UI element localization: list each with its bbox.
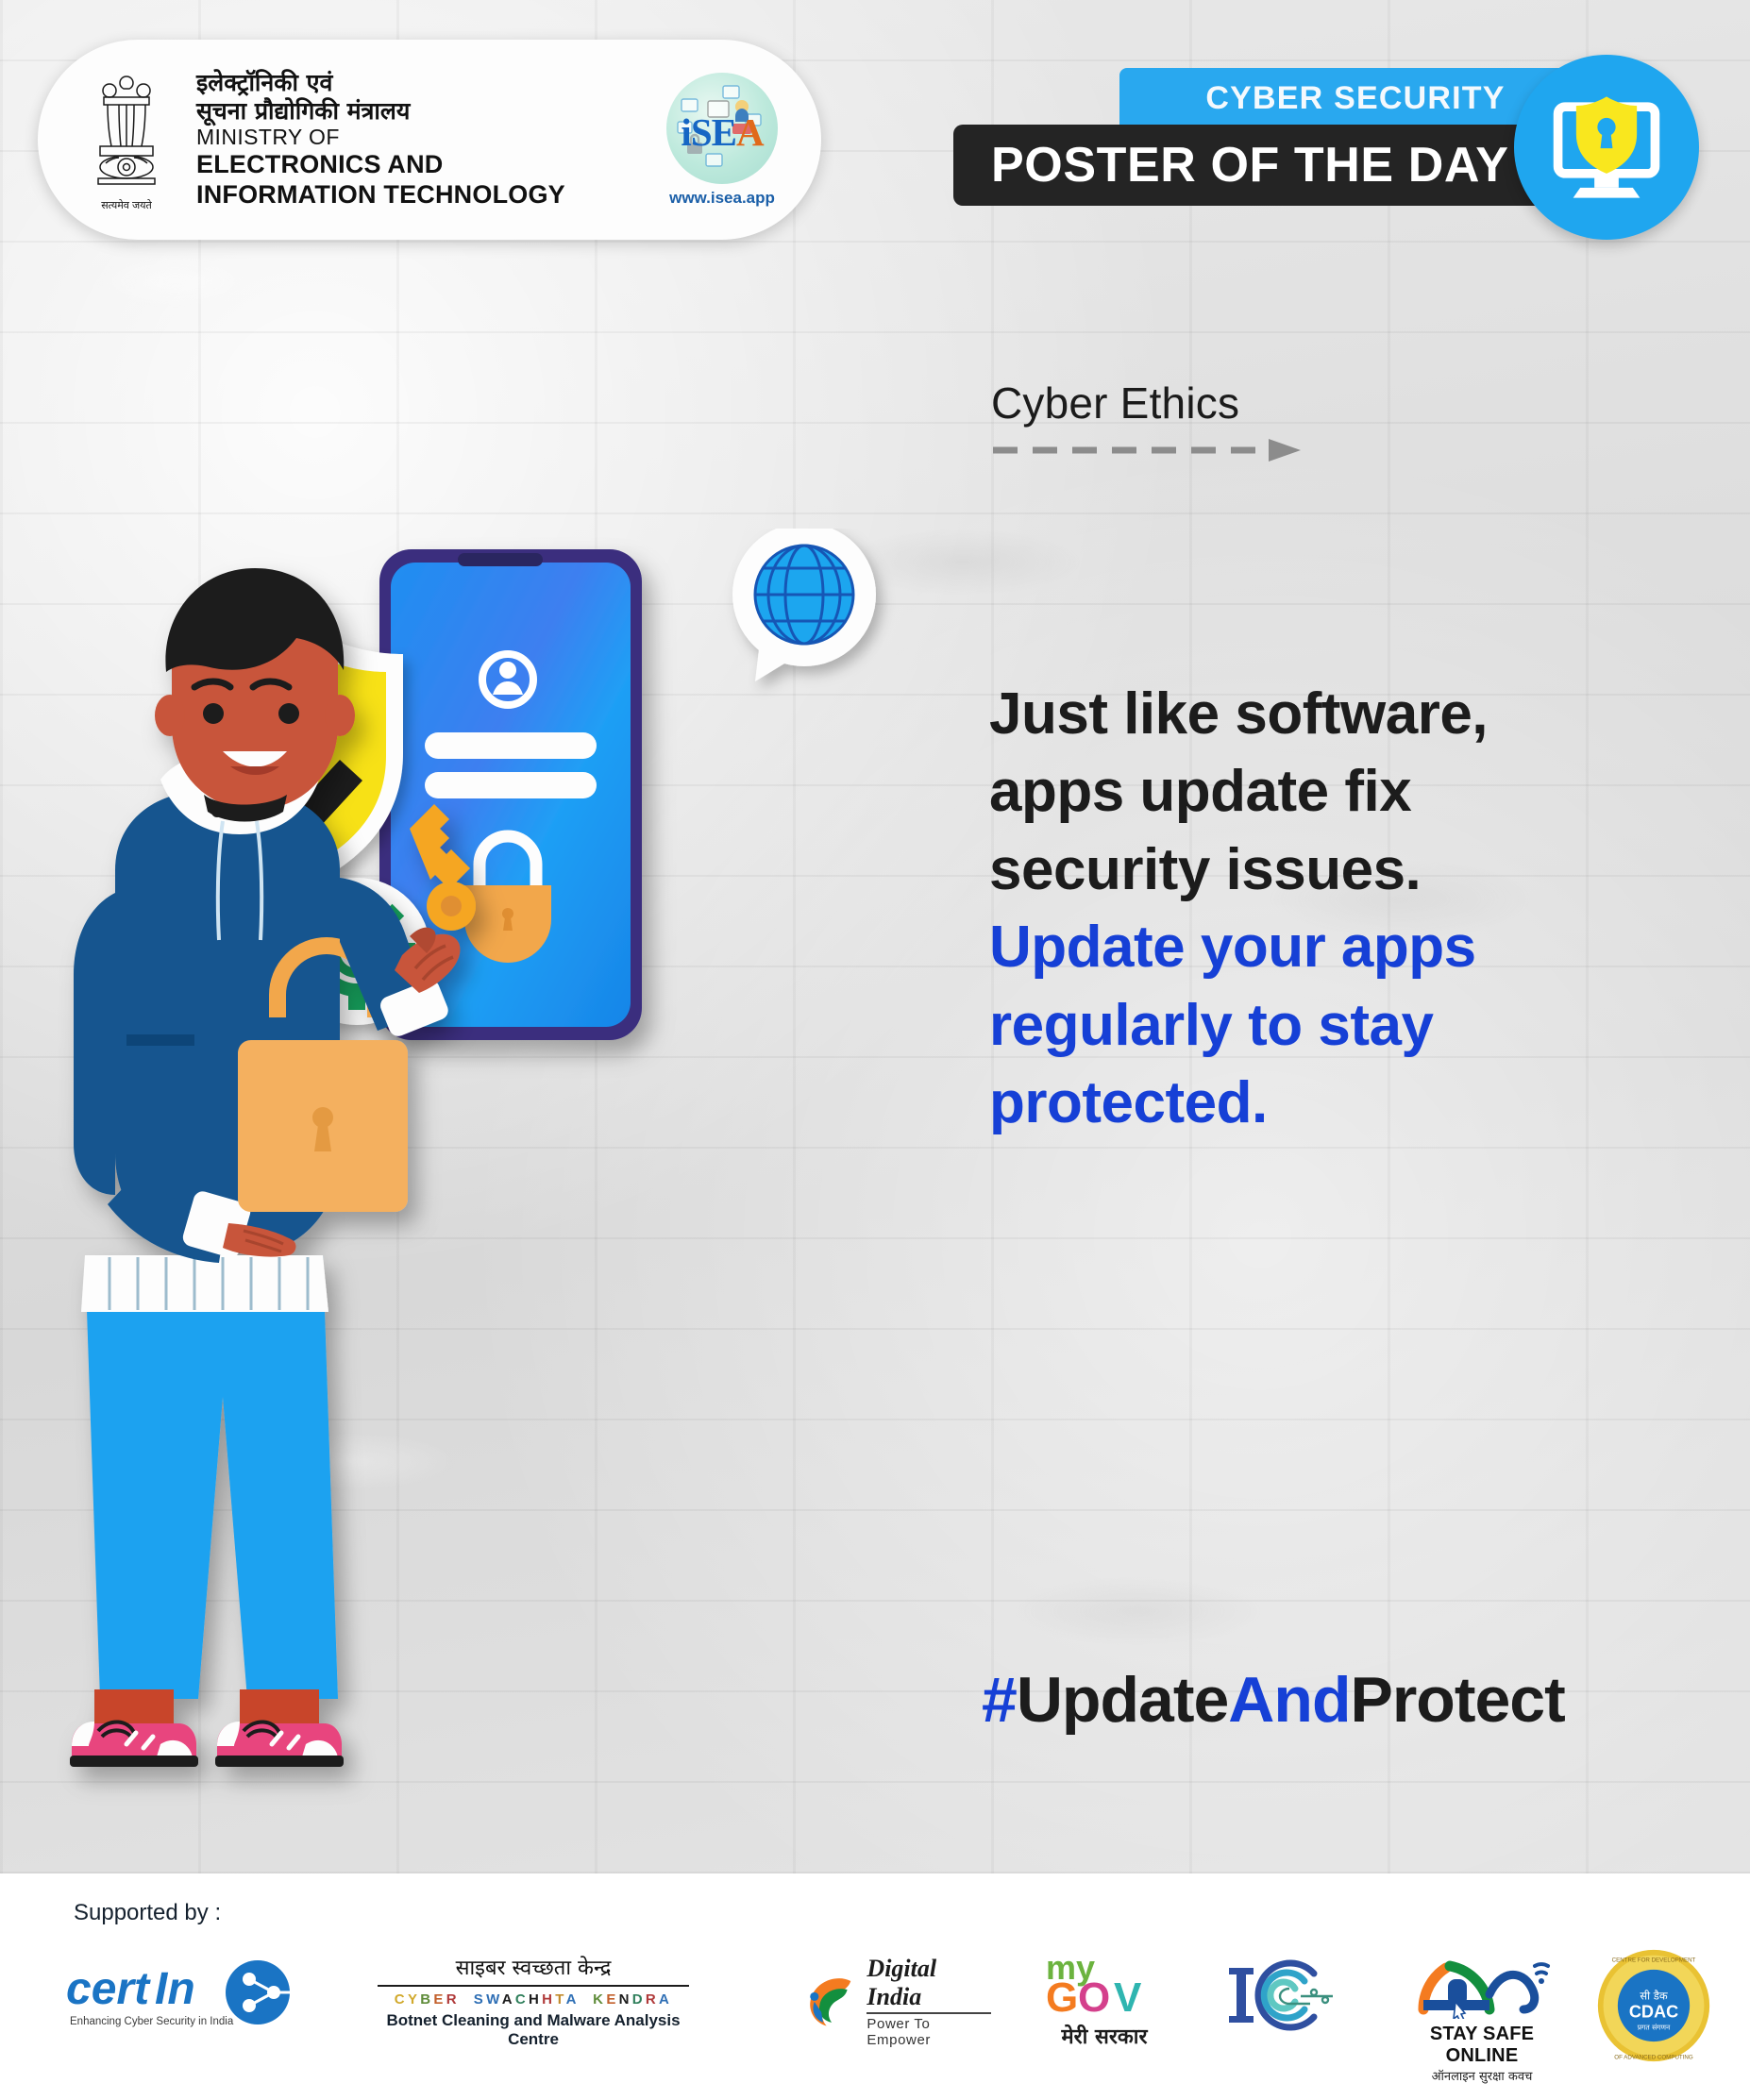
svg-text:In: In	[155, 1964, 195, 2014]
ministry-hindi-line-1: इलेक्ट्रॉनिकी एवं	[196, 69, 565, 97]
ministry-en-line-1: MINISTRY OF	[196, 125, 565, 150]
message-line-4: Update your apps	[989, 909, 1735, 986]
banner-poster-of-the-day-label: POSTER OF THE DAY	[953, 125, 1591, 206]
sso-hindi-title: ऑनलाइन सुरक्षा कवच	[1397, 2067, 1567, 2084]
svg-text:सी डैक: सी डैक	[1640, 1989, 1667, 2002]
ministry-text-block: इलेक्ट्रॉनिकी एवं सूचना प्रौद्योगिकी मंत…	[196, 69, 565, 210]
csk-hindi-title: साइबर स्वच्छता केन्द्र	[378, 1953, 689, 1981]
dashed-arrow-right-icon	[991, 438, 1303, 467]
svg-text:cert: cert	[66, 1964, 151, 2014]
message-line-5: regularly to stay	[989, 987, 1735, 1065]
footer: Supported by : cert In Enhancing Cyber S…	[0, 1873, 1750, 2100]
partner-logo-row: cert In Enhancing Cyber Security in Indi…	[57, 1941, 1718, 2074]
svg-text:CDAC: CDAC	[1629, 2002, 1678, 2021]
monitor-shield-lock-icon	[1514, 55, 1699, 240]
supported-by-label: Supported by :	[74, 1900, 221, 1926]
isea-logo: iSEA www.isea.app	[666, 73, 778, 208]
csk-english-title: CYBER SWACHHTA KENDRA	[378, 1991, 689, 2008]
csk-subtitle: Botnet Cleaning and Malware Analysis Cen…	[378, 2011, 689, 2049]
hashtag-part-and: And	[1228, 1664, 1350, 1736]
isea-wordmark: iSEA	[681, 109, 763, 155]
hashtag-part-protect: Protect	[1350, 1664, 1564, 1736]
poster-root: सत्यमेव जयते इलेक्ट्रॉनिकी एवं सूचना प्र…	[0, 0, 1750, 2100]
digital-india-title: Digital India	[867, 1955, 991, 2011]
hashtag-symbol: #	[982, 1664, 1017, 1736]
isea-circle-mark: iSEA	[666, 73, 778, 184]
globe-icon	[732, 529, 876, 681]
page-title: Cyber Ethics	[991, 378, 1303, 428]
hashtag-part-update: Update	[1017, 1664, 1228, 1736]
svg-text:प्रगत संगणन: प्रगत संगणन	[1638, 2024, 1671, 2032]
cdac-logo[interactable]: सी डैक CDAC प्रगत संगणन CENTRE FOR DEVEL…	[1595, 1947, 1718, 2069]
cert-in-logo[interactable]: cert In Enhancing Cyber Security in Indi…	[64, 1958, 319, 2048]
emblem-motto: सत्यमेव जयते	[101, 198, 152, 212]
mygov-logo[interactable]: my G O V मेरी सरकार	[1029, 1947, 1180, 2050]
mygov-hindi-title: मेरी सरकार	[1029, 2022, 1180, 2050]
isea-url: www.isea.app	[666, 189, 778, 208]
illustration	[28, 529, 963, 1850]
message-line-2: apps update fix	[989, 753, 1735, 831]
cert-in-tagline: Enhancing Cyber Security in India	[70, 2016, 234, 2027]
national-emblem-icon: सत्यमेव जयते	[81, 69, 172, 210]
svg-text:O: O	[1078, 1974, 1110, 2017]
poster-banner: CYBER SECURITY POSTER OF THE DAY	[953, 55, 1708, 244]
svg-text:OF ADVANCED COMPUTING: OF ADVANCED COMPUTING	[1614, 2054, 1693, 2060]
message-line-3: security issues.	[989, 832, 1735, 909]
isea-ic-logo[interactable]	[1227, 1958, 1350, 2039]
cyber-swachhta-kendra-logo[interactable]: साइबर स्वच्छता केन्द्र CYBER SWACHHTA KE…	[378, 1953, 689, 2049]
sso-title: STAY SAFE ONLINE	[1397, 2024, 1567, 2067]
ministry-en-line-3: INFORMATION TECHNOLOGY	[196, 180, 565, 210]
digital-india-tagline: Power To Empower	[867, 2016, 991, 2048]
campaign-hashtag: #UpdateAndProtect	[982, 1663, 1565, 1737]
message-block: Just like software, apps update fix secu…	[989, 676, 1735, 1143]
svg-text:G: G	[1046, 1974, 1078, 2017]
svg-text:CENTRE FOR DEVELOPMENT: CENTRE FOR DEVELOPMENT	[1612, 1957, 1696, 1963]
ministry-logo-pill: सत्यमेव जयते इलेक्ट्रॉनिकी एवं सूचना प्र…	[38, 40, 821, 240]
stay-safe-online-logo[interactable]: STAY SAFE ONLINE ऑनलाइन सुरक्षा कवच	[1397, 1947, 1567, 2084]
message-line-1: Just like software,	[989, 676, 1735, 753]
message-line-6: protected.	[989, 1065, 1735, 1142]
ministry-hindi-line-2: सूचना प्रौद्योगिकी मंत्रालय	[196, 97, 565, 126]
svg-text:V: V	[1114, 1974, 1142, 2017]
topic-block: Cyber Ethics	[991, 378, 1303, 467]
ministry-en-line-2: ELECTRONICS AND	[196, 150, 565, 180]
digital-india-logo[interactable]: Digital India Power To Empower	[802, 1955, 991, 2048]
